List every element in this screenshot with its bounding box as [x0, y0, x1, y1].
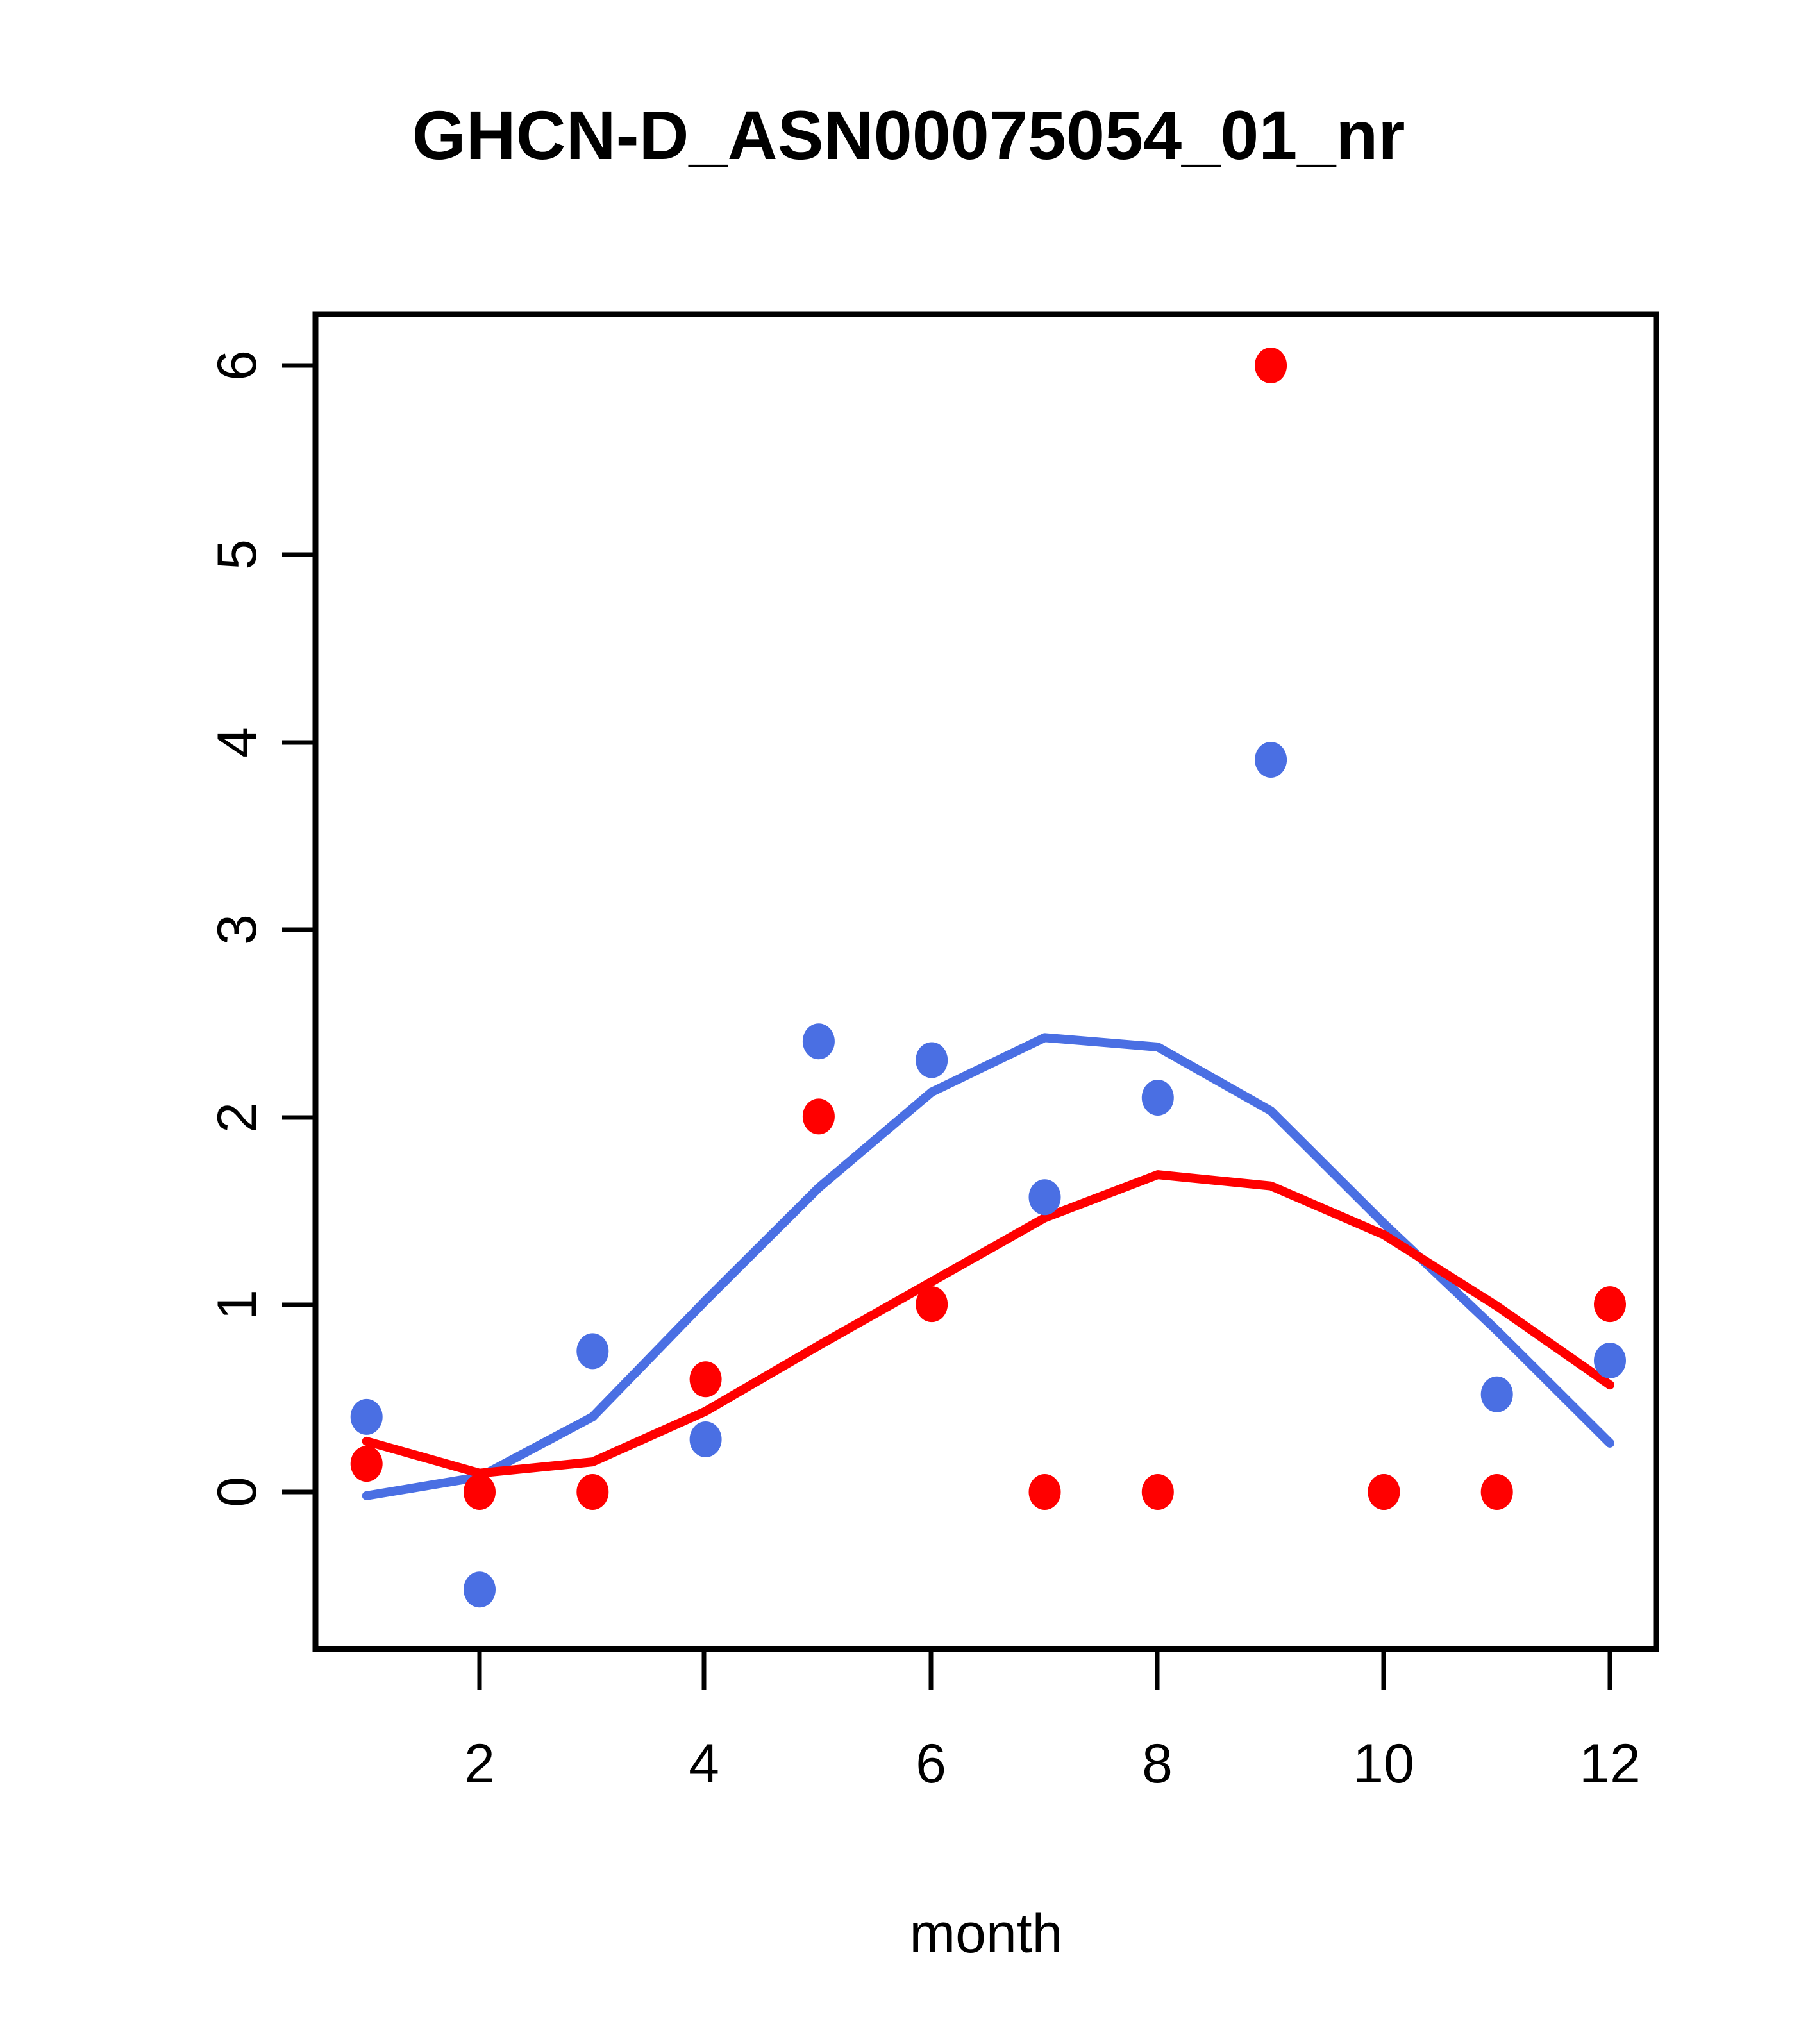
data-point	[1594, 1343, 1626, 1378]
data-point	[464, 1474, 496, 1510]
data-point	[690, 1361, 722, 1397]
y-tick-label-4: 4	[206, 727, 268, 758]
data-series-layer	[351, 348, 1626, 1607]
data-point	[1594, 1286, 1626, 1322]
data-point	[576, 1474, 608, 1510]
x-tick-label-6: 6	[916, 1733, 946, 1795]
y-tick-label-0: 0	[206, 1477, 268, 1507]
data-point	[1255, 348, 1287, 383]
data-point	[1142, 1474, 1174, 1510]
x-tick-label-12: 12	[1579, 1733, 1641, 1795]
data-point	[464, 1571, 496, 1607]
y-axis-tick-labels: 0 1 2 3 4 5 6	[206, 350, 268, 1507]
data-point	[1481, 1474, 1513, 1510]
x-tick-label-10: 10	[1353, 1733, 1414, 1795]
data-point	[1255, 742, 1287, 778]
data-point	[351, 1446, 383, 1482]
x-axis-ticks	[480, 1649, 1610, 1690]
x-tick-label-2: 2	[464, 1733, 495, 1795]
blue-points	[351, 742, 1626, 1607]
blue-trend-line	[367, 1037, 1610, 1496]
y-axis-ticks	[282, 365, 315, 1492]
y-tick-label-5: 5	[206, 539, 268, 570]
red-points	[351, 348, 1626, 1510]
y-tick-label-1: 1	[206, 1289, 268, 1320]
data-point	[351, 1399, 383, 1435]
data-point	[1368, 1474, 1400, 1510]
data-point	[803, 1023, 835, 1059]
data-point	[916, 1042, 948, 1078]
data-point	[576, 1333, 608, 1369]
data-point	[690, 1421, 722, 1457]
y-tick-label-3: 3	[206, 914, 268, 945]
y-tick-label-6: 6	[206, 350, 268, 381]
data-point	[916, 1286, 948, 1322]
plot-frame	[315, 314, 1656, 1649]
data-point	[803, 1098, 835, 1134]
x-axis-tick-labels: 2 4 6 8 10 12	[464, 1733, 1641, 1795]
x-axis-title: month	[909, 1903, 1062, 1964]
x-tick-label-4: 4	[689, 1733, 719, 1795]
data-point	[1142, 1080, 1174, 1116]
chart-page: GHCN-D_ASN00075054_01_nr 0 1 2	[0, 0, 1817, 2044]
x-tick-label-8: 8	[1142, 1733, 1173, 1795]
data-point	[1029, 1474, 1061, 1510]
data-point	[1481, 1377, 1513, 1412]
scatter-plot-figure: 0 1 2 3 4 5 6 2 4 6 8 10 12 month	[0, 0, 1817, 2044]
data-point	[1029, 1179, 1061, 1215]
y-tick-label-2: 2	[206, 1102, 268, 1133]
red-trend-line	[367, 1175, 1610, 1473]
